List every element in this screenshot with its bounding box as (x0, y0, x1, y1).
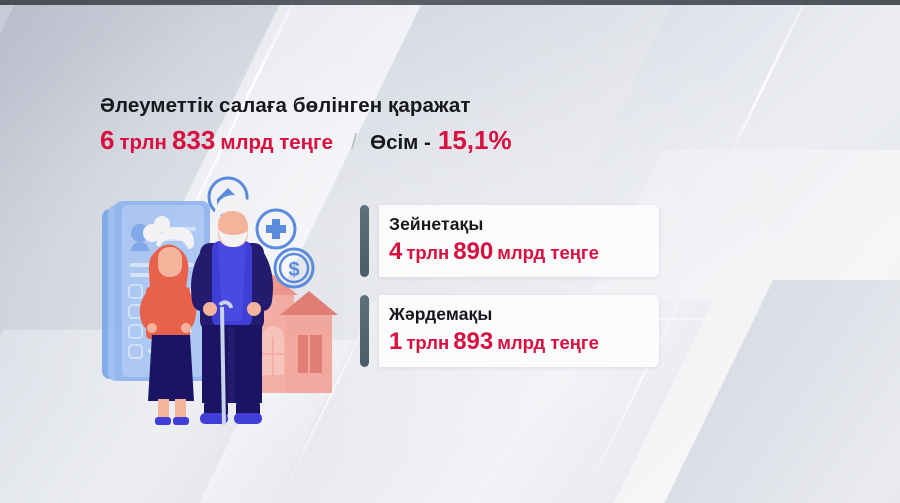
headline-block: Әлеуметтік салаға бөлінген қаражат 6 трл… (100, 94, 512, 156)
total-amount-unit-billion: млрд теңге (220, 131, 333, 155)
value-trillions: 1 (389, 328, 402, 356)
headline-separator: / (351, 129, 357, 155)
growth-label: Өсім - (370, 131, 431, 155)
stat-card-benefits: Жәрдемақы 1 трлн 893 млрд теңге (360, 295, 659, 367)
page-title: Әлеуметтік салаға бөлінген қаражат (100, 94, 512, 118)
stat-card-value: 1 трлн 893 млрд теңге (389, 328, 637, 356)
value-trillions: 4 (389, 238, 402, 266)
value-unit-trillion: трлн (406, 332, 449, 354)
svg-text:$: $ (288, 259, 299, 281)
stat-card-body: Жәрдемақы 1 трлн 893 млрд теңге (379, 295, 659, 367)
medical-cross-icon (257, 210, 295, 248)
stat-card-label: Жәрдемақы (389, 304, 637, 325)
total-amount-billions: 833 (172, 125, 215, 156)
illustration: $ (100, 175, 340, 425)
value-unit-trillion: трлн (406, 242, 449, 264)
accent-bar (360, 205, 369, 277)
stat-card-value: 4 трлн 890 млрд теңге (389, 238, 637, 266)
stat-card-label: Зейнетақы (389, 214, 637, 235)
value-unit-billion: млрд теңге (497, 242, 599, 264)
infographic-stage: Әлеуметтік салаға бөлінген қаражат 6 трл… (0, 0, 900, 503)
top-bar (0, 0, 900, 5)
dollar-icon: $ (275, 249, 313, 287)
total-amount-unit-trillion: трлн (119, 131, 166, 155)
growth-value: 15,1% (438, 125, 512, 156)
value-billions: 893 (453, 328, 493, 356)
accent-bar (360, 295, 369, 367)
total-amount-trillions: 6 (100, 125, 114, 156)
value-billions: 890 (453, 238, 493, 266)
stat-card-body: Зейнетақы 4 трлн 890 млрд теңге (379, 205, 659, 277)
headline-amount-row: 6 трлн 833 млрд теңге / Өсім - 15,1% (100, 125, 512, 156)
value-unit-billion: млрд теңге (497, 332, 599, 354)
stat-card-pension: Зейнетақы 4 трлн 890 млрд теңге (360, 205, 659, 277)
